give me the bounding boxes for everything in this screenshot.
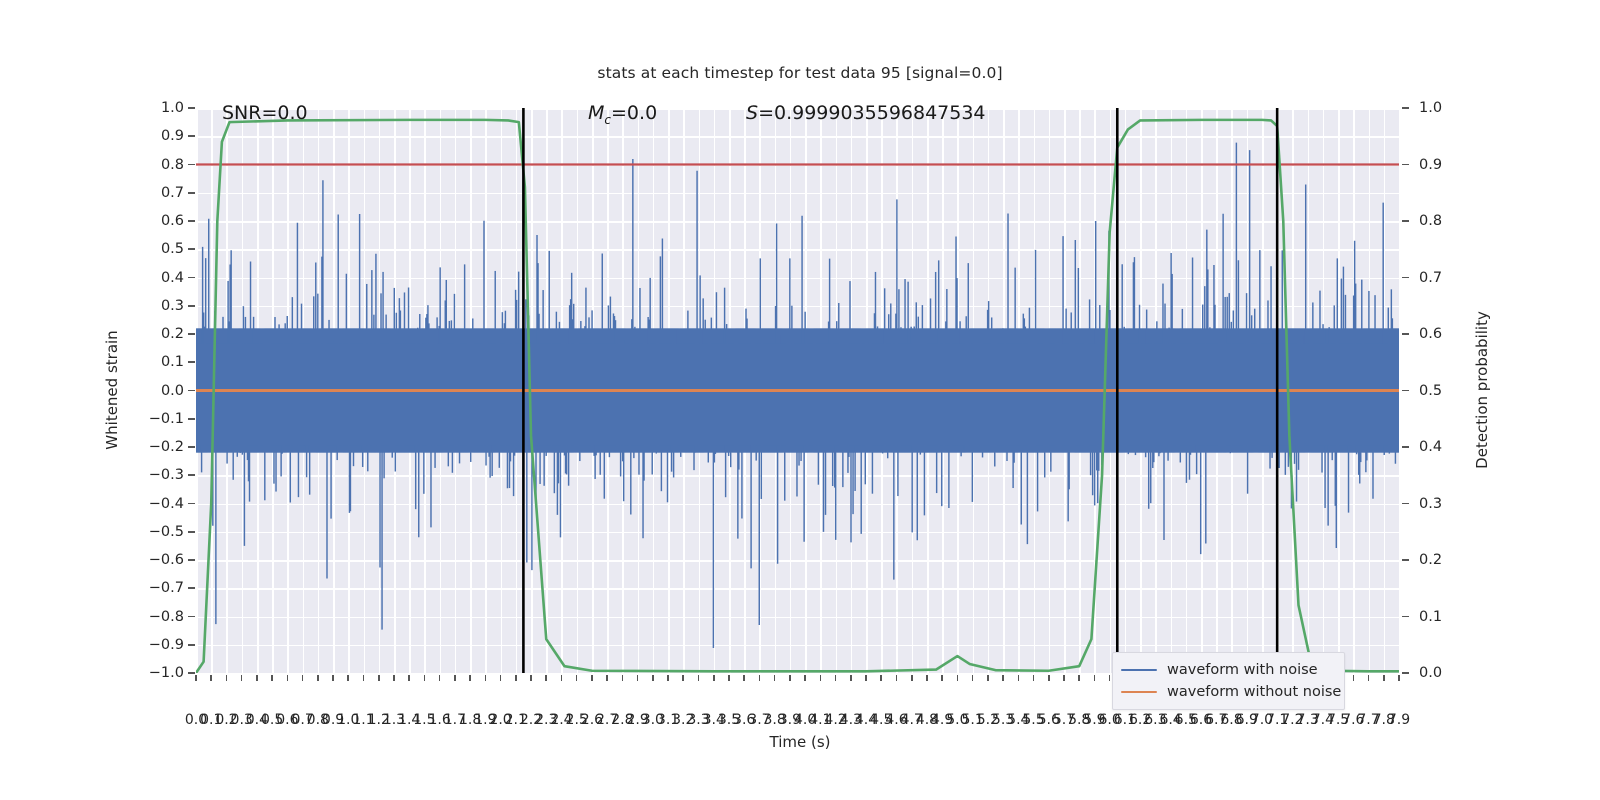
x-tick-mark — [378, 675, 380, 681]
y-tick-label-left: 0.3 — [161, 298, 184, 314]
x-tick-mark — [1353, 675, 1355, 681]
y-tick-mark-left — [188, 503, 195, 505]
x-tick-mark — [408, 675, 410, 681]
y-tick-mark-left — [188, 418, 195, 420]
x-tick-mark — [606, 675, 608, 681]
x-tick-mark — [957, 675, 959, 681]
x-tick-mark — [454, 675, 456, 681]
y-tick-mark-left — [188, 220, 195, 222]
y-tick-label-left: −1.0 — [149, 665, 184, 681]
x-tick-mark — [713, 675, 715, 681]
y-tick-label-left: 0.0 — [161, 383, 184, 399]
x-tick-mark — [743, 675, 745, 681]
x-tick-mark — [363, 675, 365, 681]
y-tick-mark-left — [188, 333, 195, 335]
x-tick-mark — [241, 675, 243, 681]
y-tick-label-left: −0.4 — [149, 496, 184, 512]
y-tick-mark-right — [1402, 164, 1409, 166]
x-tick-mark — [1398, 675, 1400, 681]
y-tick-label-right: 0.0 — [1419, 665, 1442, 681]
x-tick-mark — [393, 675, 395, 681]
x-axis-label: Time (s) — [0, 733, 1600, 751]
y-tick-label-left: 0.4 — [161, 270, 184, 286]
legend[interactable]: waveform with noisewaveform without nois… — [1112, 652, 1345, 710]
x-tick-mark — [332, 675, 334, 681]
y-tick-label-left: −0.5 — [149, 524, 184, 540]
x-tick-mark — [850, 675, 852, 681]
data-layer — [196, 108, 1399, 673]
x-tick-mark — [1078, 675, 1080, 681]
x-tick-mark — [911, 675, 913, 681]
y-tick-mark-right — [1402, 672, 1409, 674]
y-tick-mark-right — [1402, 559, 1409, 561]
x-tick-mark — [637, 675, 639, 681]
y-tick-label-right: 0.4 — [1419, 439, 1442, 455]
x-tick-mark — [682, 675, 684, 681]
x-tick-mark — [347, 675, 349, 681]
x-tick-mark — [1368, 675, 1370, 681]
legend-label: waveform with noise — [1167, 662, 1318, 678]
y-tick-label-left: 0.8 — [161, 157, 184, 173]
x-tick-mark — [500, 675, 502, 681]
x-tick-mark — [195, 675, 197, 681]
x-tick-mark — [545, 675, 547, 681]
y-tick-mark-right — [1402, 446, 1409, 448]
x-tick-mark — [1048, 675, 1050, 681]
y-tick-mark-right — [1402, 390, 1409, 392]
y-tick-mark-left — [188, 305, 195, 307]
y-tick-label-left: 0.7 — [161, 185, 184, 201]
x-tick-mark — [896, 675, 898, 681]
y-tick-label-right: 0.7 — [1419, 270, 1442, 286]
x-tick-mark — [226, 675, 228, 681]
x-tick-mark — [1094, 675, 1096, 681]
y-tick-label-right: 0.2 — [1419, 552, 1442, 568]
y-tick-mark-right — [1402, 107, 1409, 109]
y-tick-label-right: 0.1 — [1419, 609, 1442, 625]
x-tick-label: 7.9 — [1388, 712, 1410, 728]
y-tick-label-left: −0.8 — [149, 609, 184, 625]
annotation-snr: SNR=0.0 — [222, 102, 308, 124]
y-tick-label-left: −0.3 — [149, 467, 184, 483]
y-tick-mark-left — [188, 474, 195, 476]
x-tick-mark — [317, 675, 319, 681]
legend-item[interactable]: waveform without noise — [1121, 681, 1336, 703]
x-tick-mark — [271, 675, 273, 681]
x-tick-mark — [941, 675, 943, 681]
x-tick-mark — [1063, 675, 1065, 681]
x-tick-mark — [865, 675, 867, 681]
x-tick-mark — [880, 675, 882, 681]
x-tick-mark — [1383, 675, 1385, 681]
legend-color-swatch — [1121, 691, 1157, 693]
plot-area[interactable] — [196, 108, 1399, 673]
y-tick-label-left: −0.2 — [149, 439, 184, 455]
x-tick-mark — [652, 675, 654, 681]
y-tick-label-left: −0.6 — [149, 552, 184, 568]
mc-symbol: M — [588, 102, 604, 124]
y-tick-mark-left — [188, 446, 195, 448]
x-tick-mark — [1002, 675, 1004, 681]
y-tick-mark-left — [188, 616, 195, 618]
y-tick-label-right: 0.6 — [1419, 326, 1442, 342]
noise-core-band — [196, 344, 1399, 446]
y-tick-mark-left — [188, 390, 195, 392]
x-tick-mark — [439, 675, 441, 681]
x-tick-mark — [774, 675, 776, 681]
x-tick-mark — [515, 675, 517, 681]
mc-value: =0.0 — [611, 102, 657, 124]
x-tick-mark — [561, 675, 563, 681]
x-tick-mark — [210, 675, 212, 681]
x-tick-mark — [698, 675, 700, 681]
y-tick-label-left: 1.0 — [161, 100, 184, 116]
x-tick-mark — [1109, 675, 1111, 681]
x-tick-mark — [302, 675, 304, 681]
x-tick-mark — [591, 675, 593, 681]
y-axis-label-right: Detection probability — [1473, 311, 1491, 469]
chart-title: stats at each timestep for test data 95 … — [0, 64, 1600, 82]
x-tick-mark — [485, 675, 487, 681]
legend-color-swatch — [1121, 669, 1157, 671]
y-tick-mark-left — [188, 531, 195, 533]
y-tick-label-left: 0.5 — [161, 241, 184, 257]
y-tick-mark-left — [188, 164, 195, 166]
s-symbol: S — [746, 102, 758, 124]
x-tick-mark — [622, 675, 624, 681]
y-tick-mark-right — [1402, 616, 1409, 618]
annotation-chirp-mass: Mc=0.0 — [588, 102, 657, 127]
y-tick-label-left: −0.7 — [149, 580, 184, 596]
x-tick-mark — [469, 675, 471, 681]
y-tick-label-left: −0.9 — [149, 637, 184, 653]
y-tick-label-right: 0.9 — [1419, 157, 1442, 173]
y-tick-mark-left — [188, 277, 195, 279]
y-tick-mark-left — [188, 192, 195, 194]
y-tick-mark-left — [188, 672, 195, 674]
x-tick-mark — [926, 675, 928, 681]
y-axis-label-left: Whitened strain — [103, 330, 121, 449]
x-tick-mark — [576, 675, 578, 681]
y-tick-label-right: 0.8 — [1419, 213, 1442, 229]
x-tick-mark — [789, 675, 791, 681]
x-tick-mark — [987, 675, 989, 681]
y-tick-label-right: 1.0 — [1419, 100, 1442, 116]
x-tick-mark — [820, 675, 822, 681]
x-tick-mark — [804, 675, 806, 681]
y-tick-label-left: 0.6 — [161, 213, 184, 229]
s-value: =0.9999035596847534 — [758, 102, 985, 124]
x-tick-mark — [1018, 675, 1020, 681]
x-tick-mark — [972, 675, 974, 681]
legend-item[interactable]: waveform with noise — [1121, 659, 1336, 681]
x-tick-mark — [667, 675, 669, 681]
y-tick-mark-left — [188, 135, 195, 137]
y-tick-mark-left — [188, 644, 195, 646]
y-tick-label-left: −0.1 — [149, 411, 184, 427]
x-tick-mark — [530, 675, 532, 681]
y-tick-label-right: 0.5 — [1419, 383, 1442, 399]
x-tick-mark — [424, 675, 426, 681]
y-tick-mark-left — [188, 361, 195, 363]
x-tick-mark — [835, 675, 837, 681]
y-tick-mark-left — [188, 587, 195, 589]
y-tick-mark-right — [1402, 503, 1409, 505]
y-tick-mark-left — [188, 559, 195, 561]
x-tick-mark — [287, 675, 289, 681]
y-tick-mark-left — [188, 248, 195, 250]
x-tick-mark — [759, 675, 761, 681]
legend-label: waveform without noise — [1167, 684, 1341, 700]
y-tick-mark-right — [1402, 277, 1409, 279]
y-tick-label-left: 0.9 — [161, 128, 184, 144]
annotation-score: S=0.9999035596847534 — [746, 102, 986, 124]
y-tick-mark-right — [1402, 333, 1409, 335]
y-tick-label-right: 0.3 — [1419, 496, 1442, 512]
y-tick-label-left: 0.2 — [161, 326, 184, 342]
figure: stats at each timestep for test data 95 … — [0, 0, 1600, 800]
y-tick-label-left: 0.1 — [161, 354, 184, 370]
x-tick-mark — [728, 675, 730, 681]
y-tick-mark-right — [1402, 220, 1409, 222]
y-tick-mark-left — [188, 107, 195, 109]
x-tick-mark — [1033, 675, 1035, 681]
x-tick-mark — [256, 675, 258, 681]
